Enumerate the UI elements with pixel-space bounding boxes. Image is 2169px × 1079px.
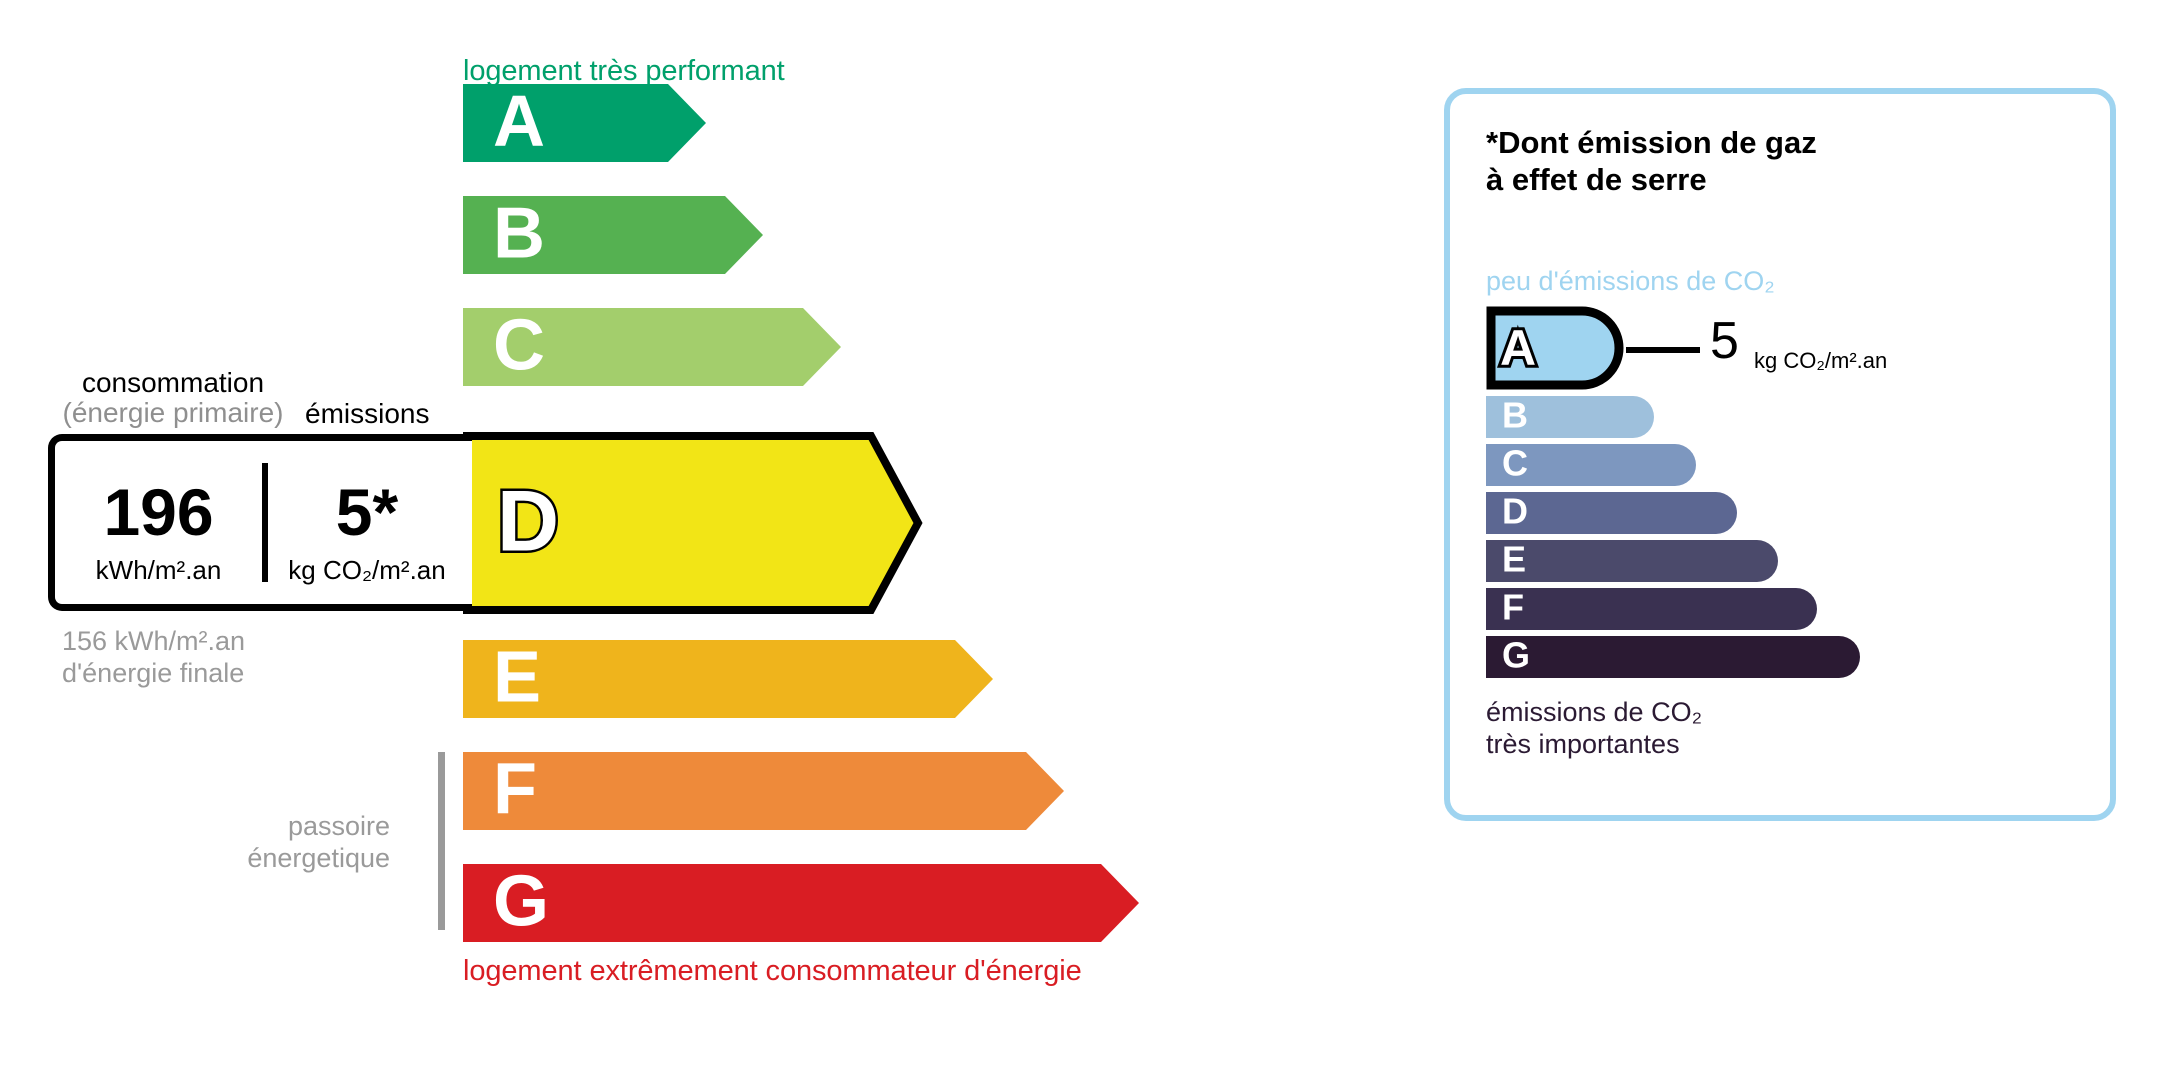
passoire-line-1: passoire (210, 810, 390, 842)
co2-capsule-a (1486, 306, 1632, 390)
arrow-shape-f (463, 752, 1075, 830)
energy-class-row-g[interactable]: G (463, 864, 1149, 942)
final-energy-label: d'énergie finale (62, 657, 245, 689)
arrow-shape-c (463, 308, 851, 386)
co2-class-row-f[interactable]: F (1486, 588, 1819, 630)
co2-selected-unit: kg CO₂/m².an (1754, 348, 1887, 374)
co2-leader-line (1626, 347, 1700, 353)
passoire-bracket-icon (438, 752, 445, 930)
co2-title-line-1: *Dont émission de gaz (1486, 125, 1817, 162)
co2-class-row-e[interactable]: E (1486, 540, 1780, 582)
consumption-header: consommation (énergie primaire) (58, 368, 288, 428)
co2-capsule-e (1486, 540, 1780, 582)
co2-bottom-caption: émissions de CO₂ très importantes (1486, 696, 1702, 761)
co2-emissions-panel: *Dont émission de gaz à effet de serre p… (1444, 88, 2116, 821)
energy-class-row-a[interactable]: A (463, 84, 713, 162)
co2-class-row-g[interactable]: G (1486, 636, 1862, 678)
consumption-value: 196 (55, 479, 262, 545)
co2-capsule-c (1486, 444, 1698, 486)
energy-class-row-c[interactable]: C (463, 308, 851, 386)
arrow-shape-d (463, 432, 933, 614)
energy-class-row-d-selected[interactable]: D (463, 432, 933, 614)
emission-value-cell: 5* kg CO₂/m².an (268, 441, 466, 604)
energy-class-row-b[interactable]: B (463, 196, 773, 274)
arrow-shape-a (463, 84, 713, 162)
energy-performance-chart: logement très performant A B C (0, 0, 1400, 1079)
co2-class-row-b[interactable]: B (1486, 396, 1656, 438)
consumption-header-sub: (énergie primaire) (58, 398, 288, 428)
scale-bottom-caption: logement extrêmement consommateur d'éner… (463, 955, 1082, 988)
energy-class-row-e[interactable]: E (463, 640, 1003, 718)
co2-class-row-c[interactable]: C (1486, 444, 1698, 486)
arrow-shape-g (463, 864, 1149, 942)
co2-top-caption: peu d'émissions de CO₂ (1486, 266, 1775, 297)
passoire-energetique-label: passoire énergetique (210, 810, 390, 875)
co2-capsule-f (1486, 588, 1819, 630)
arrow-shape-b (463, 196, 773, 274)
co2-bottom-line-1: émissions de CO₂ (1486, 696, 1702, 728)
consumption-unit: kWh/m².an (55, 555, 262, 586)
co2-capsule-d (1486, 492, 1739, 534)
arrow-shape-e (463, 640, 1003, 718)
co2-title-line-2: à effet de serre (1486, 162, 1817, 199)
emissions-header: émissions (305, 398, 429, 430)
energy-class-row-f[interactable]: F (463, 752, 1075, 830)
consumption-header-main: consommation (58, 368, 288, 398)
emission-value: 5* (268, 479, 466, 545)
emission-unit: kg CO₂/m².an (268, 555, 466, 586)
co2-bottom-line-2: très importantes (1486, 728, 1702, 760)
final-energy-value: 156 kWh/m².an (62, 625, 245, 657)
co2-class-row-d[interactable]: D (1486, 492, 1739, 534)
co2-class-row-a-selected[interactable]: A 5 kg CO₂/m².an (1486, 306, 1632, 390)
co2-panel-title: *Dont émission de gaz à effet de serre (1486, 125, 1817, 198)
final-energy-note: 156 kWh/m².an d'énergie finale (62, 625, 245, 690)
co2-capsule-g (1486, 636, 1862, 678)
co2-selected-value: 5 (1710, 315, 1739, 367)
co2-capsule-b (1486, 396, 1656, 438)
measured-values-box: 196 kWh/m².an 5* kg CO₂/m².an (48, 434, 472, 611)
passoire-line-2: énergetique (210, 842, 390, 874)
consumption-value-cell: 196 kWh/m².an (55, 441, 262, 604)
